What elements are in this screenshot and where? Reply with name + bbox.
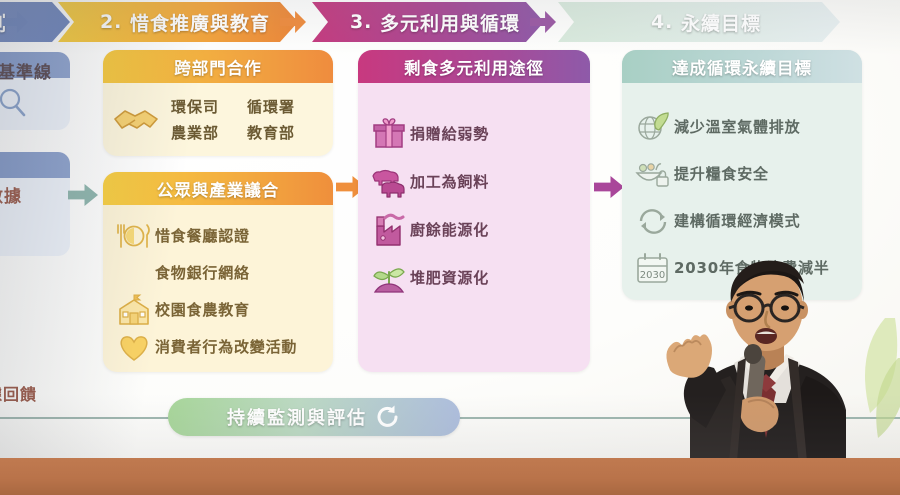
step-3-label: 多元利用與循環 [380,9,520,36]
none-icon [113,256,155,290]
school-icon [113,293,155,327]
livestock-icon [368,164,410,198]
list-item-label: 建構循環經濟模式 [674,210,800,231]
card-circular-goals-title: 達成循環永續目標 [622,50,862,83]
presentation-slide: 與量測 2. 惜食推廣與教育 3. 多元利用與循環 4. 永續目標 基準線 [0,0,900,458]
list-item-label: 堆肥資源化 [410,267,489,288]
refresh-cycle-icon [375,404,401,430]
list-item-label: 廚餘能源化 [410,219,489,240]
list-item[interactable]: 惜食餐廳認證 [113,217,323,254]
step-2-chevron[interactable]: 2. 惜食推廣與教育 [58,2,298,42]
list-item-label: 提升糧食安全 [674,163,769,184]
gift-icon [368,116,410,150]
step-2-number: 2. [100,11,122,33]
sprout-icon [368,260,410,294]
room-wall-strip [0,458,900,495]
step-arrow-3 [530,11,556,33]
heart-icon [113,330,155,364]
list-item-label: 加工為飼料 [410,171,489,192]
list-item-label: 惜食餐廳認證 [155,225,250,246]
step-3-chevron[interactable]: 3. 多元利用與循環 [312,2,544,42]
list-item[interactable]: 加工為飼料 [368,157,580,205]
card-surplus-routes-title: 剩食多元利用途徑 [358,50,590,83]
dept-3: 教育部 [247,122,323,143]
connector-arrow-sidebar-to-yellow [68,184,98,206]
list-item[interactable]: 減少溫室氣體排放 [632,103,852,150]
footer-pill-monitoring[interactable]: 持續監測與評估 [168,398,460,436]
plate-cutlery-icon [113,219,155,253]
step-4-chevron[interactable]: 4. 永續目標 [558,2,840,42]
recycle-icon [632,204,674,238]
card-surplus-routes[interactable]: 剩食多元利用途徑 捐贈給弱勢 [358,50,590,372]
step-2-label: 惜食推廣與教育 [130,9,270,36]
list-item[interactable]: 食物銀行網絡 [113,254,323,291]
sidebar-card-data-header [0,152,70,178]
globe-leaf-icon [632,110,674,144]
dept-1: 循環署 [247,96,323,117]
step-arrow-2 [280,11,306,33]
handshake-icon [111,99,161,139]
list-item-label: 減少溫室氣體排放 [674,116,800,137]
food-security-icon [632,157,674,191]
list-item[interactable]: 廚餘能源化 [368,205,580,253]
step-3-number: 3. [350,11,372,33]
department-grid: 環保司 循環署 農業部 教育部 [171,96,323,143]
list-item[interactable]: 消費者行為改變活動 [113,328,323,365]
list-item-label: 校園食農教育 [155,299,250,320]
factory-icon [368,212,410,246]
sidebar-card-baseline-title: 基準線 [0,58,52,83]
list-item[interactable]: 提升糧食安全 [632,150,852,197]
step-4-number: 4. [651,11,673,33]
dept-0: 環保司 [171,96,247,117]
dept-2: 農業部 [171,122,247,143]
list-item-label: 捐贈給弱勢 [410,123,489,144]
footer-line-left [0,417,178,419]
speaker-photo [630,250,900,458]
list-item-label: 消費者行為改變活動 [155,336,297,357]
footer-pill-label: 持續監測與評估 [227,404,367,430]
card-public-industry[interactable]: 公眾與產業議合 惜食餐廳認證 食物銀行網絡 [103,172,333,372]
list-item[interactable]: 校園食農教育 [113,291,323,328]
list-item[interactable]: 堆肥資源化 [368,253,580,301]
sidebar-feedback-label: 據回饋 [0,381,37,405]
connector-arrow-pink-to-green [594,176,624,198]
card-public-industry-title: 公眾與產業議合 [103,172,333,205]
sidebar-card-data-label: 數據 [0,182,22,207]
step-4-label: 永續目標 [681,9,761,36]
card-cross-dept[interactable]: 跨部門合作 環保司 循環署 農業部 教育部 [103,50,333,156]
list-item[interactable]: 建構循環經濟模式 [632,197,852,244]
list-item-label: 食物銀行網絡 [155,262,250,283]
list-item[interactable]: 捐贈給弱勢 [368,109,580,157]
card-cross-dept-title: 跨部門合作 [103,50,333,83]
magnifier-icon [0,86,30,120]
step-arrow-1 [2,11,28,33]
